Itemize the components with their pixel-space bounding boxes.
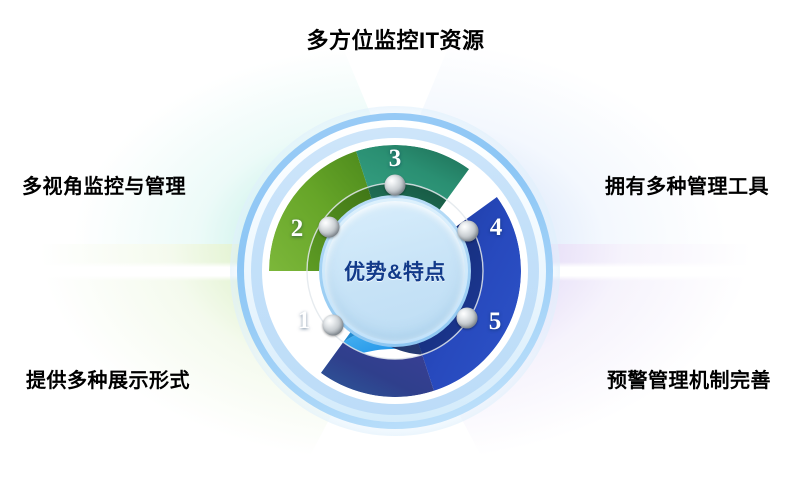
marker-sphere-3[interactable]	[385, 175, 406, 196]
label-bottom-left: 提供多种展示形式	[26, 364, 190, 393]
center-label: 优势&特点	[344, 256, 446, 286]
segment-number-3: 3	[389, 145, 402, 173]
segment-number-2: 2	[291, 215, 304, 243]
diagram-canvas: 优势&特点 1 2 3 4 5 多方位监控IT资源 多视角监控与管理 拥有多种管…	[0, 0, 791, 487]
diagram-title: 多方位监控IT资源	[306, 23, 484, 55]
wheel-center-disc: 优势&特点	[325, 201, 465, 341]
marker-sphere-2[interactable]	[319, 217, 340, 238]
segment-number-1: 1	[298, 307, 311, 335]
marker-sphere-4[interactable]	[458, 221, 479, 242]
segment-number-4: 4	[490, 214, 503, 242]
label-bottom-right: 预警管理机制完善	[607, 364, 771, 393]
marker-sphere-1[interactable]	[323, 315, 344, 336]
label-top-left: 多视角监控与管理	[22, 170, 186, 199]
segment-number-5: 5	[489, 308, 502, 336]
label-top-right: 拥有多种管理工具	[605, 170, 769, 199]
marker-sphere-5[interactable]	[457, 308, 478, 329]
